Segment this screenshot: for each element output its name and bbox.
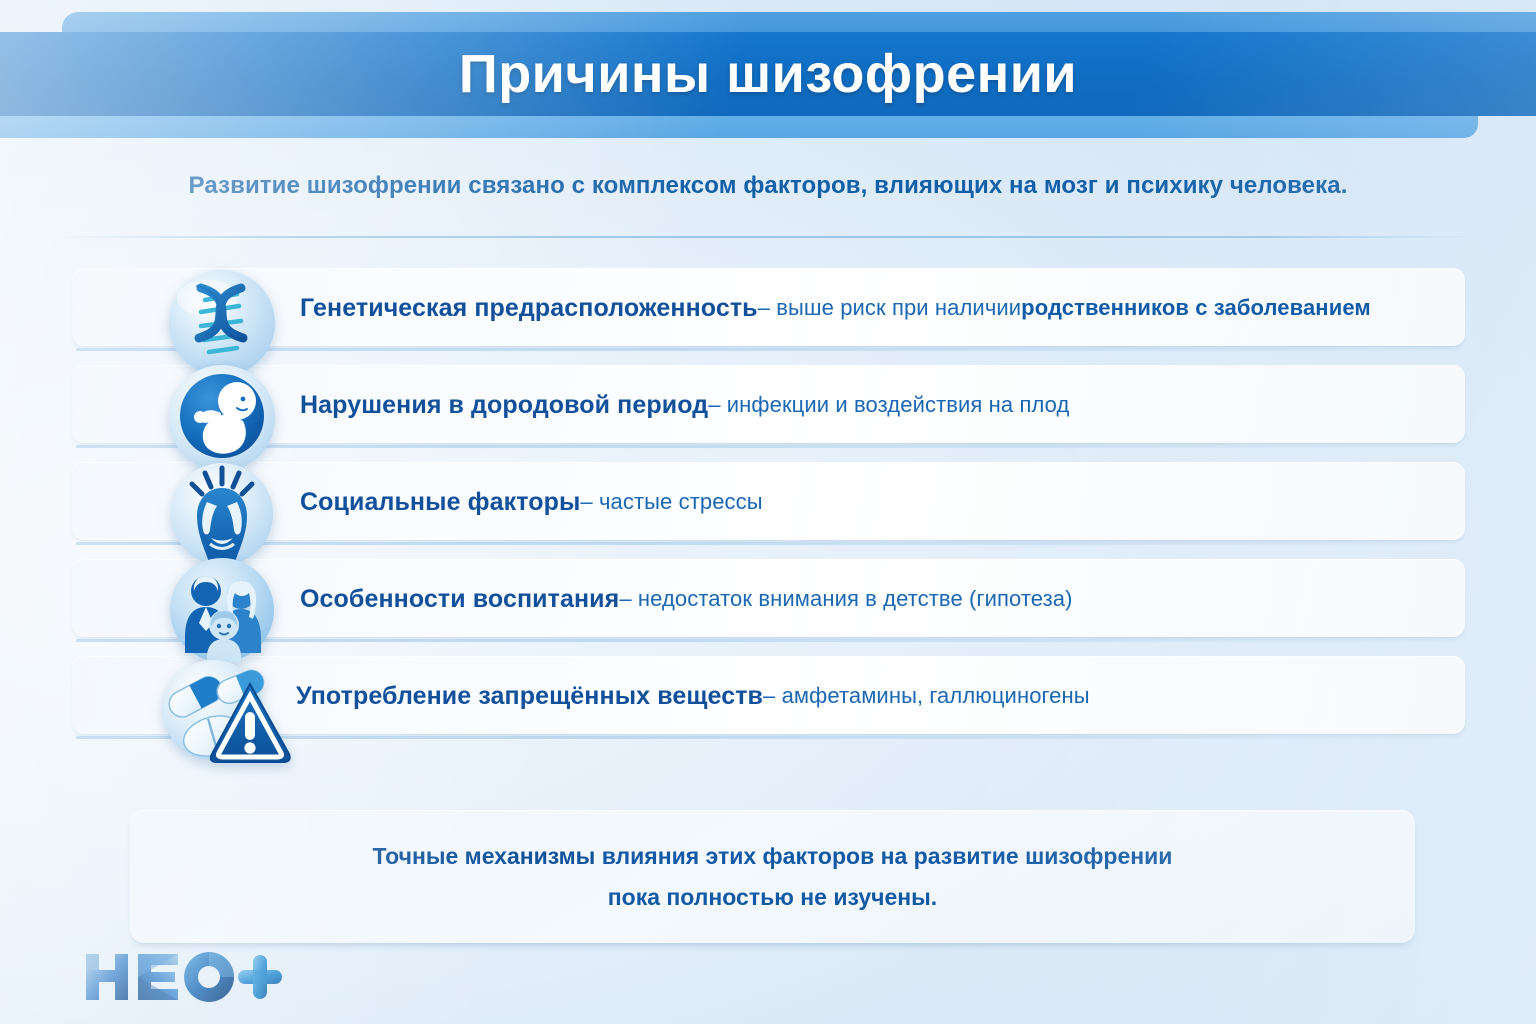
factor-title: Употребление запрещённых веществ xyxy=(296,682,763,711)
factor-title: Особенности воспитания xyxy=(300,585,619,614)
factor-text: Употребление запрещённых веществ – амфет… xyxy=(296,650,1090,742)
intro-text: Развитие шизофрении связано с комплексом… xyxy=(0,172,1536,200)
factor-desc-before: – выше риск при наличии xyxy=(758,295,1022,321)
list-item[interactable]: Употребление запрещённых веществ – амфет… xyxy=(0,650,1536,745)
list-item[interactable]: Генетическая предрасположенность – выше … xyxy=(0,262,1536,357)
list-item[interactable]: Нарушения в дородовой период – инфекции … xyxy=(0,359,1536,454)
page-title: Причины шизофрении xyxy=(459,43,1077,105)
factor-text: Нарушения в дородовой период – инфекции … xyxy=(300,359,1069,451)
factor-desc-before: – недостаток внимания в детстве (гипотез… xyxy=(619,586,1072,612)
factor-desc-before: – амфетамины, галлюциногены xyxy=(763,683,1090,709)
conclusion-card: Точные механизмы влияния этих факторов н… xyxy=(130,810,1415,943)
brand-logo[interactable] xyxy=(82,946,282,1008)
intro-divider xyxy=(48,236,1488,238)
factor-underline xyxy=(76,542,1461,545)
header: Причины шизофрении xyxy=(0,0,1536,142)
header-bottom-strip xyxy=(0,116,1478,138)
conclusion-line-1-rest: влияния этих факторов на развитие шизофр… xyxy=(595,843,1172,869)
factor-title: Нарушения в дородовой период xyxy=(300,391,708,420)
factor-desc-before: – инфекции и воздействия на плод xyxy=(708,392,1069,418)
infographic-page: Причины шизофрении Развитие шизофрении с… xyxy=(0,0,1536,1024)
factor-title: Социальные факторы xyxy=(300,488,580,517)
conclusion-line-1: Точные механизмы влияния этих факторов н… xyxy=(373,843,1173,870)
factor-desc-before: – частые стрессы xyxy=(580,489,762,515)
factor-text: Социальные факторы – частые стрессы xyxy=(300,456,763,548)
factor-text: Генетическая предрасположенность – выше … xyxy=(300,262,1371,354)
factor-text: Особенности воспитания – недостаток вним… xyxy=(300,553,1073,645)
factor-desc-emphasis: родственников с заболеванием xyxy=(1021,295,1371,320)
list-item[interactable]: Особенности воспитания – недостаток вним… xyxy=(0,553,1536,648)
list-item[interactable]: Социальные факторы – частые стрессы xyxy=(0,456,1536,551)
conclusion-emphasis: Точные механизмы xyxy=(373,843,596,869)
conclusion-line-2: пока полностью не изучены. xyxy=(608,884,937,911)
factor-title: Генетическая предрасположенность xyxy=(300,294,758,323)
pills-warning-icon xyxy=(155,646,291,772)
header-bar: Причины шизофрении xyxy=(0,32,1536,116)
factor-list: Генетическая предрасположенность – выше … xyxy=(0,262,1536,747)
